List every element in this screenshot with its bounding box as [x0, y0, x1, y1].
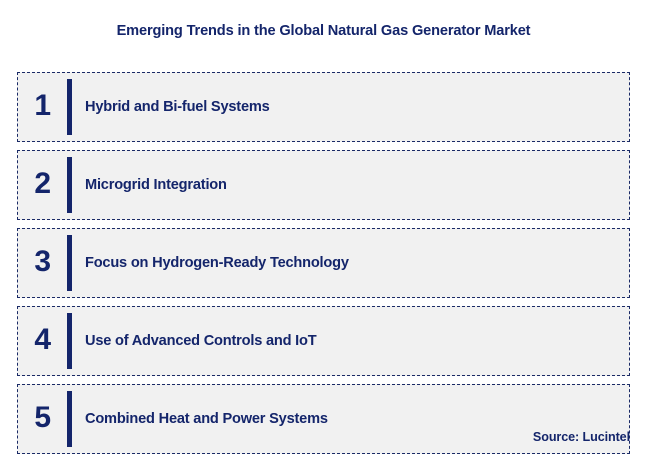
trend-label: Microgrid Integration — [72, 176, 629, 194]
trend-label: Use of Advanced Controls and IoT — [72, 332, 629, 350]
trend-row: 4 Use of Advanced Controls and IoT — [17, 306, 630, 376]
source-attribution: Source: Lucintel — [533, 430, 630, 444]
trend-number: 1 — [18, 91, 67, 123]
trend-number: 3 — [18, 247, 67, 279]
trend-number: 5 — [18, 403, 67, 435]
trend-row: 2 Microgrid Integration — [17, 150, 630, 220]
trend-row: 1 Hybrid and Bi-fuel Systems — [17, 72, 630, 142]
page-title: Emerging Trends in the Global Natural Ga… — [0, 22, 647, 40]
trend-number: 4 — [18, 325, 67, 357]
trend-label: Hybrid and Bi-fuel Systems — [72, 98, 629, 116]
infographic-container: Emerging Trends in the Global Natural Ga… — [0, 0, 647, 457]
trend-list: 1 Hybrid and Bi-fuel Systems 2 Microgrid… — [17, 72, 630, 454]
trend-label: Focus on Hydrogen-Ready Technology — [72, 254, 629, 272]
trend-label: Combined Heat and Power Systems — [72, 410, 629, 428]
trend-number: 2 — [18, 169, 67, 201]
trend-row: 3 Focus on Hydrogen-Ready Technology — [17, 228, 630, 298]
